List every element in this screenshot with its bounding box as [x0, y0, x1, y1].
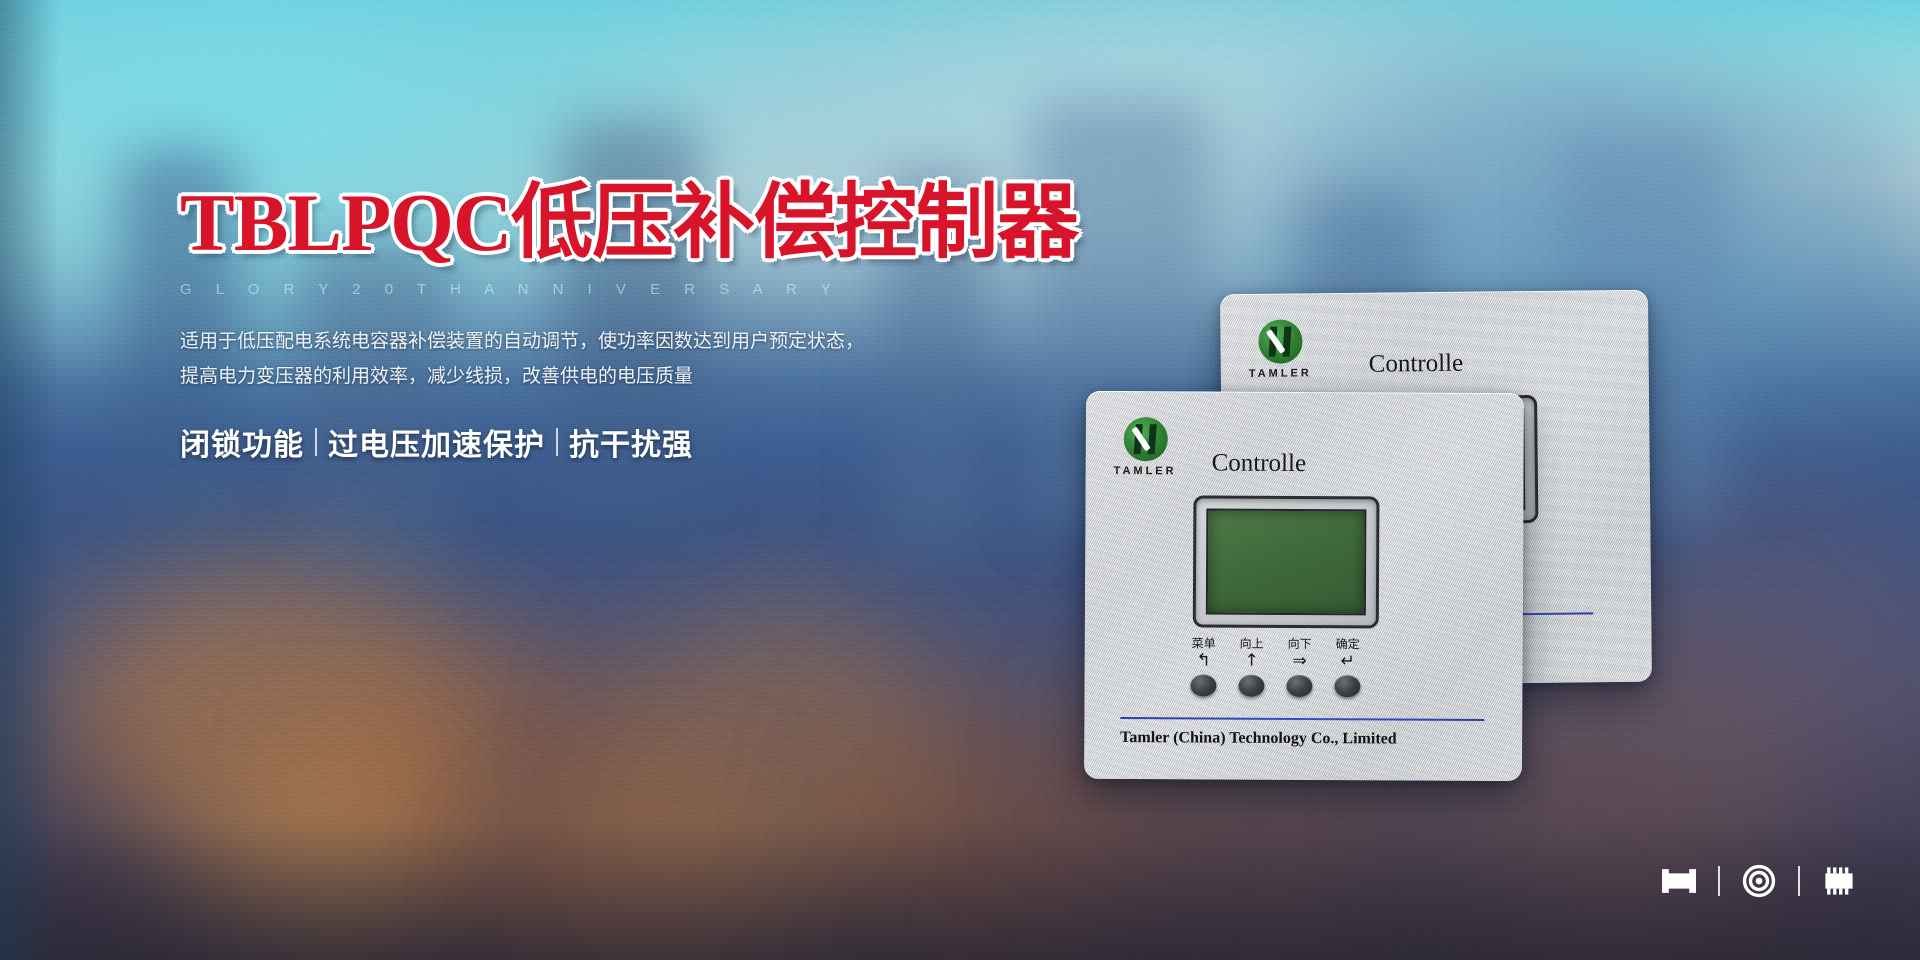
key-label: 向上	[1240, 638, 1264, 650]
coil-target-icon	[1738, 864, 1780, 898]
lcd-screen-front	[1206, 508, 1367, 615]
anniversary-tagline: G L O R Y 2 0 T H A N N I V E R S A R Y	[180, 281, 1080, 298]
keypad-front: 菜单 ↰ 向上 ↑ 向下 ⇒ 确定 ↵	[1190, 637, 1360, 697]
logo-slash-icon	[1131, 426, 1150, 451]
icon-divider	[1718, 866, 1720, 896]
brand-logo-rear: TAMLER	[1248, 319, 1312, 380]
promotional-banner: TBLPQC低压补偿控制器 G L O R Y 2 0 T H A N N I …	[0, 0, 1920, 960]
brand-name-front: TAMLER	[1114, 465, 1177, 477]
brand-logo-front: TAMLER	[1114, 417, 1177, 477]
feature-divider	[315, 428, 317, 456]
device-title-rear: Controlle	[1369, 350, 1464, 379]
feature-divider	[556, 428, 558, 456]
feature-item-3: 抗干扰强	[569, 420, 693, 464]
chip-ic-icon	[1818, 864, 1860, 898]
product-description: 适用于低压配电系统电容器补偿装置的自动调节，使功率因数达到用户预定状态，提高电力…	[180, 324, 870, 394]
key-down-front[interactable]: 向下 ⇒	[1286, 638, 1312, 697]
transformer-icon	[1658, 864, 1700, 898]
tamler-logo-icon	[1258, 319, 1302, 363]
logo-slash-icon	[1265, 329, 1285, 354]
footer-rule-front	[1120, 717, 1484, 721]
enter-arrow-icon: ↵	[1340, 653, 1354, 670]
key-up-front[interactable]: 向上 ↑	[1238, 638, 1264, 697]
key-button[interactable]	[1334, 675, 1360, 697]
feature-icon-bar	[1658, 864, 1860, 898]
copy-block: TBLPQC低压补偿控制器 G L O R Y 2 0 T H A N N I …	[180, 180, 1080, 464]
key-label: 向下	[1288, 638, 1312, 650]
lcd-bezel-front	[1193, 495, 1380, 628]
icon-divider	[1798, 866, 1800, 896]
key-label: 菜单	[1192, 637, 1216, 649]
feature-list: 闭锁功能 过电压加速保护 抗干扰强	[180, 420, 1080, 464]
page-title: TBLPQC低压补偿控制器	[180, 180, 1080, 267]
back-arrow-icon: ↰	[1196, 652, 1210, 669]
company-name-front: Tamler (China) Technology Co., Limited	[1120, 729, 1397, 748]
key-label: 确定	[1336, 638, 1360, 650]
key-button[interactable]	[1190, 674, 1216, 696]
tamler-logo-icon	[1123, 417, 1167, 461]
feature-item-2: 过电压加速保护	[328, 420, 545, 464]
key-button[interactable]	[1286, 675, 1312, 697]
arrow-up-icon: ↑	[1244, 653, 1258, 670]
device-title-front: Controlle	[1212, 450, 1307, 478]
controller-device-front: TAMLER Controlle 菜单 ↰ 向上 ↑ 向下 ⇒ 确定	[1084, 391, 1524, 781]
feature-item-1: 闭锁功能	[180, 420, 304, 464]
key-button[interactable]	[1238, 675, 1264, 697]
key-menu-front[interactable]: 菜单 ↰	[1190, 637, 1216, 696]
arrow-right-icon: ⇒	[1292, 653, 1306, 670]
key-enter-front[interactable]: 确定 ↵	[1334, 638, 1360, 697]
brand-name-rear: TAMLER	[1249, 367, 1312, 380]
